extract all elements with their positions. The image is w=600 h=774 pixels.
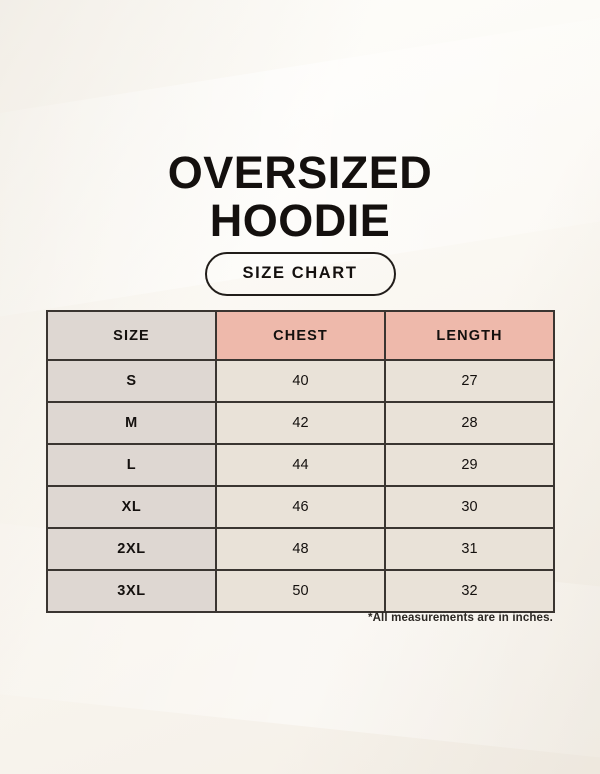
cell-size: L — [47, 444, 216, 486]
table-row: M 42 28 — [47, 402, 554, 444]
cell-length: 27 — [385, 360, 554, 402]
size-table-container: SIZE CHEST LENGTH S 40 27 M 42 28 L — [46, 310, 553, 613]
page-title-line-1: OVERSIZED — [0, 150, 600, 195]
size-chart-badge-container: SIZE CHART — [0, 252, 600, 296]
cell-chest: 42 — [216, 402, 385, 444]
cell-length: 29 — [385, 444, 554, 486]
cell-size: XL — [47, 486, 216, 528]
cell-length: 32 — [385, 570, 554, 612]
table-row: 2XL 48 31 — [47, 528, 554, 570]
cell-chest: 48 — [216, 528, 385, 570]
cell-chest: 46 — [216, 486, 385, 528]
size-chart-page: OVERSIZED HOODIE SIZE CHART SIZE CHEST L… — [0, 0, 600, 774]
column-header-size: SIZE — [47, 311, 216, 360]
table-header-row: SIZE CHEST LENGTH — [47, 311, 554, 360]
size-chart-badge: SIZE CHART — [205, 252, 396, 296]
cell-size: M — [47, 402, 216, 444]
table-row: XL 46 30 — [47, 486, 554, 528]
cell-chest: 50 — [216, 570, 385, 612]
page-title: OVERSIZED HOODIE — [0, 150, 600, 243]
size-table: SIZE CHEST LENGTH S 40 27 M 42 28 L — [46, 310, 555, 613]
size-table-head: SIZE CHEST LENGTH — [47, 311, 554, 360]
page-title-line-2: HOODIE — [0, 198, 600, 243]
cell-size: 3XL — [47, 570, 216, 612]
size-table-body: S 40 27 M 42 28 L 44 29 XL 46 30 — [47, 360, 554, 612]
cell-length: 28 — [385, 402, 554, 444]
cell-chest: 44 — [216, 444, 385, 486]
cell-length: 30 — [385, 486, 554, 528]
measurement-footnote: *All measurements are in inches. — [46, 612, 553, 624]
table-row: 3XL 50 32 — [47, 570, 554, 612]
column-header-length: LENGTH — [385, 311, 554, 360]
cell-chest: 40 — [216, 360, 385, 402]
cell-size: S — [47, 360, 216, 402]
table-row: L 44 29 — [47, 444, 554, 486]
cell-size: 2XL — [47, 528, 216, 570]
cell-length: 31 — [385, 528, 554, 570]
table-row: S 40 27 — [47, 360, 554, 402]
column-header-chest: CHEST — [216, 311, 385, 360]
